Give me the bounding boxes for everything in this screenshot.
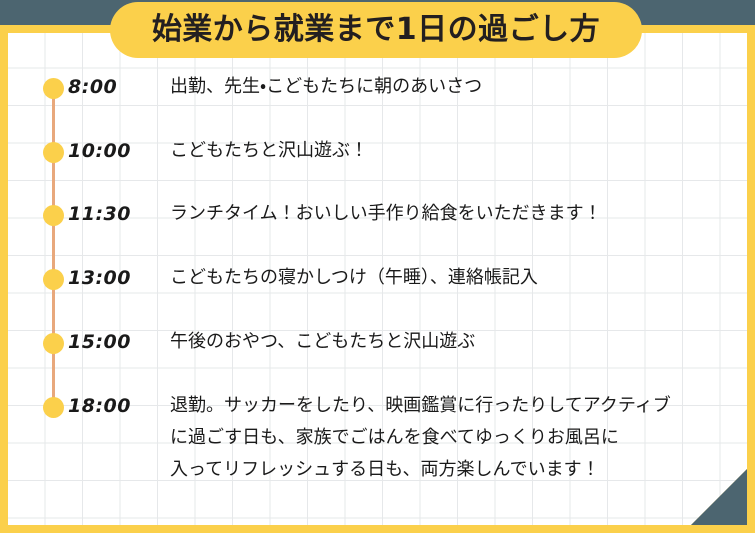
timeline-item-description: こどもたちの寝かしつけ（午睡）、連絡帳記入 [170,262,730,294]
timeline-item-time: 15:00 [68,331,131,353]
timeline-dot-icon [43,142,64,163]
infographic-card: 8:00出勤、先生・こどもたちに朝のあいさつ10:00こどもたちと沢山遊ぶ！11… [0,0,755,533]
timeline-dot-icon [43,333,64,354]
timeline-item-time: 13:00 [68,267,131,289]
timeline-item-description: 午後のおやつ、こどもたちと沢山遊ぶ [170,326,730,358]
timeline-dot-icon [43,78,64,99]
timeline-item-description-line: こどもたちと沢山遊ぶ！ [170,135,730,167]
timeline-dot-icon [43,269,64,290]
timeline-dot-icon [43,397,64,418]
grid-paper-sheet: 8:00出勤、先生・こどもたちに朝のあいさつ10:00こどもたちと沢山遊ぶ！11… [8,33,747,525]
timeline-item-time: 8:00 [68,76,117,98]
timeline-item-description-line: 午後のおやつ、こどもたちと沢山遊ぶ [170,326,730,358]
title-pill: 始業から就業まで1日の過ごし方 [110,2,642,58]
timeline-dot-icon [43,205,64,226]
timeline-item-description-line: に過ごす日も、家族でごはんを食べてゆっくりお風呂に [170,422,730,454]
timeline-item-description-line: 入ってリフレッシュする日も、両方楽しんでいます！ [170,454,730,486]
folded-corner-shadow [691,469,747,525]
page-title: 始業から就業まで1日の過ごし方 [152,15,600,45]
timeline-item-description: ランチタイム！おいしい手作り給食をいただきます！ [170,198,730,230]
timeline-item-time: 18:00 [68,395,131,417]
timeline-item-description-line: ランチタイム！おいしい手作り給食をいただきます！ [170,198,730,230]
timeline-item-description-line: 退勤。サッカーをしたり、映画鑑賞に行ったりしてアクティブ [170,390,730,422]
timeline-item-time: 11:30 [68,203,131,225]
timeline-item-description-line: こどもたちの寝かしつけ（午睡）、連絡帳記入 [170,262,730,294]
timeline-item-description-line: 出勤、先生・こどもたちに朝のあいさつ [170,71,730,103]
timeline-item-description: 出勤、先生・こどもたちに朝のあいさつ [170,71,730,103]
timeline-item-description: こどもたちと沢山遊ぶ！ [170,135,730,167]
timeline: 8:00出勤、先生・こどもたちに朝のあいさつ10:00こどもたちと沢山遊ぶ！11… [8,33,747,525]
timeline-axis-line [52,88,55,407]
timeline-item-time: 10:00 [68,140,131,162]
timeline-item-description: 退勤。サッカーをしたり、映画鑑賞に行ったりしてアクティブに過ごす日も、家族でごは… [170,390,730,486]
